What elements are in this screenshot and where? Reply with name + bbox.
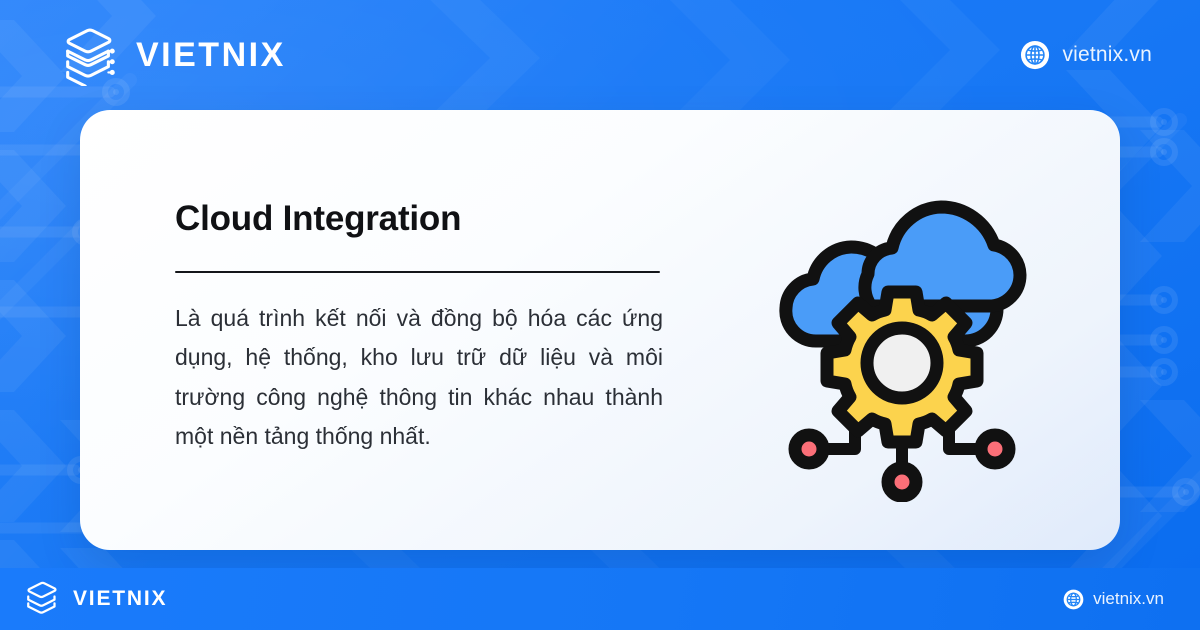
stacked-layers-icon — [58, 24, 120, 86]
title-divider — [175, 271, 660, 273]
footer-brand-logo[interactable]: VIETNIX — [22, 579, 167, 619]
page-title: Cloud Integration — [175, 200, 680, 239]
brand-name: VIETNIX — [136, 36, 286, 75]
globe-icon — [1063, 589, 1084, 610]
footer-site-link[interactable]: vietnix.vn — [1063, 589, 1164, 610]
page-header: VIETNIX vietnix.vn — [0, 0, 1200, 110]
globe-icon — [1020, 40, 1050, 70]
header-site-url: vietnix.vn — [1062, 43, 1152, 67]
header-site-link[interactable]: vietnix.vn — [1020, 40, 1168, 70]
footer-site-url: vietnix.vn — [1093, 589, 1164, 609]
brand-logo[interactable]: VIETNIX — [58, 24, 286, 86]
footer-brand-name: VIETNIX — [73, 587, 167, 611]
poster-canvas: VIETNIX vietnix.vn — [0, 0, 1200, 630]
page-footer: VIETNIX vietnix.vn — [0, 568, 1200, 630]
card-description: Là quá trình kết nối và đồng bộ hóa các … — [175, 299, 663, 457]
content-card: Cloud Integration Là quá trình kết nối v… — [80, 110, 1120, 550]
stacked-layers-icon — [22, 579, 62, 619]
cloud-gear-network-icon — [742, 152, 1062, 502]
card-text-column: Cloud Integration Là quá trình kết nối v… — [80, 110, 680, 550]
